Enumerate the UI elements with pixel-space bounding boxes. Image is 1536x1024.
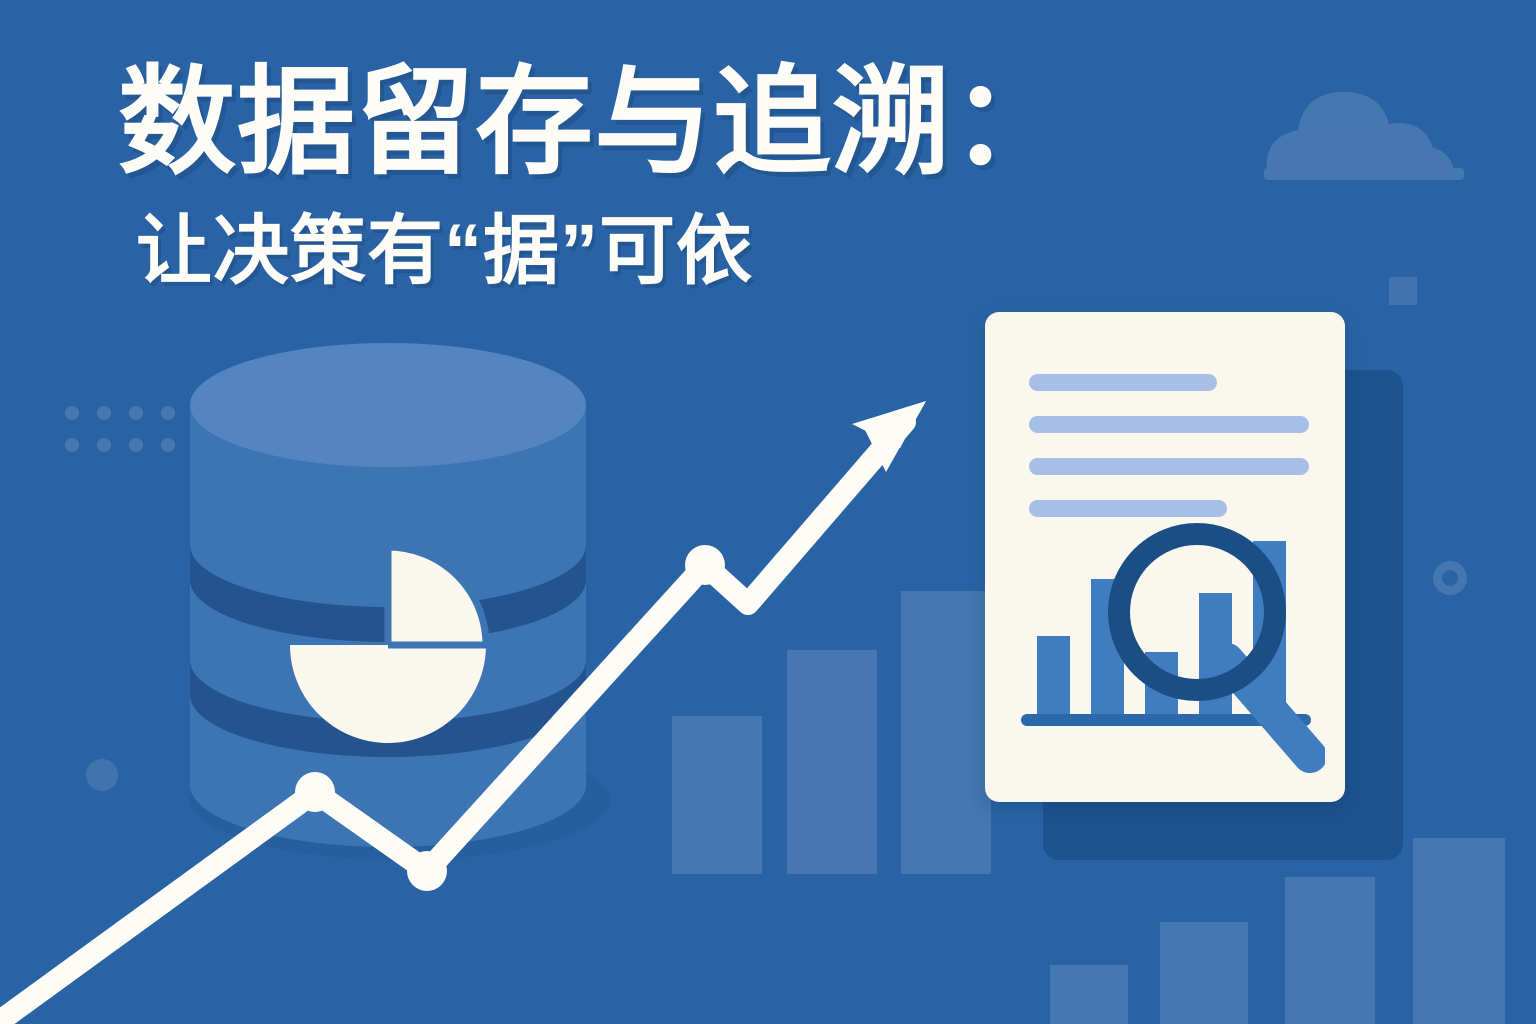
document-page	[985, 312, 1345, 802]
report-document[interactable]	[985, 312, 1345, 802]
page-title: 数据留存与追溯：	[118, 52, 1238, 196]
arrow-node-markers	[295, 545, 725, 891]
chart-bar	[1199, 593, 1232, 714]
document-bar-chart	[1021, 536, 1311, 726]
document-text-line	[1029, 500, 1227, 517]
headline-block: 数据留存与追溯： 让决策有“据”可依	[118, 52, 1238, 299]
chart-bar	[1091, 579, 1124, 714]
document-text-line	[1029, 416, 1309, 433]
chart-bar	[1253, 541, 1286, 714]
page-subtitle: 让决策有“据”可依	[136, 204, 1238, 299]
document-text-line	[1029, 374, 1217, 391]
chart-bar	[1037, 636, 1070, 714]
chart-bar	[1145, 652, 1178, 714]
poster-canvas: 数据留存与追溯： 让决策有“据”可依	[0, 0, 1536, 1024]
chart-baseline	[1021, 714, 1311, 726]
document-text-line	[1029, 458, 1309, 475]
